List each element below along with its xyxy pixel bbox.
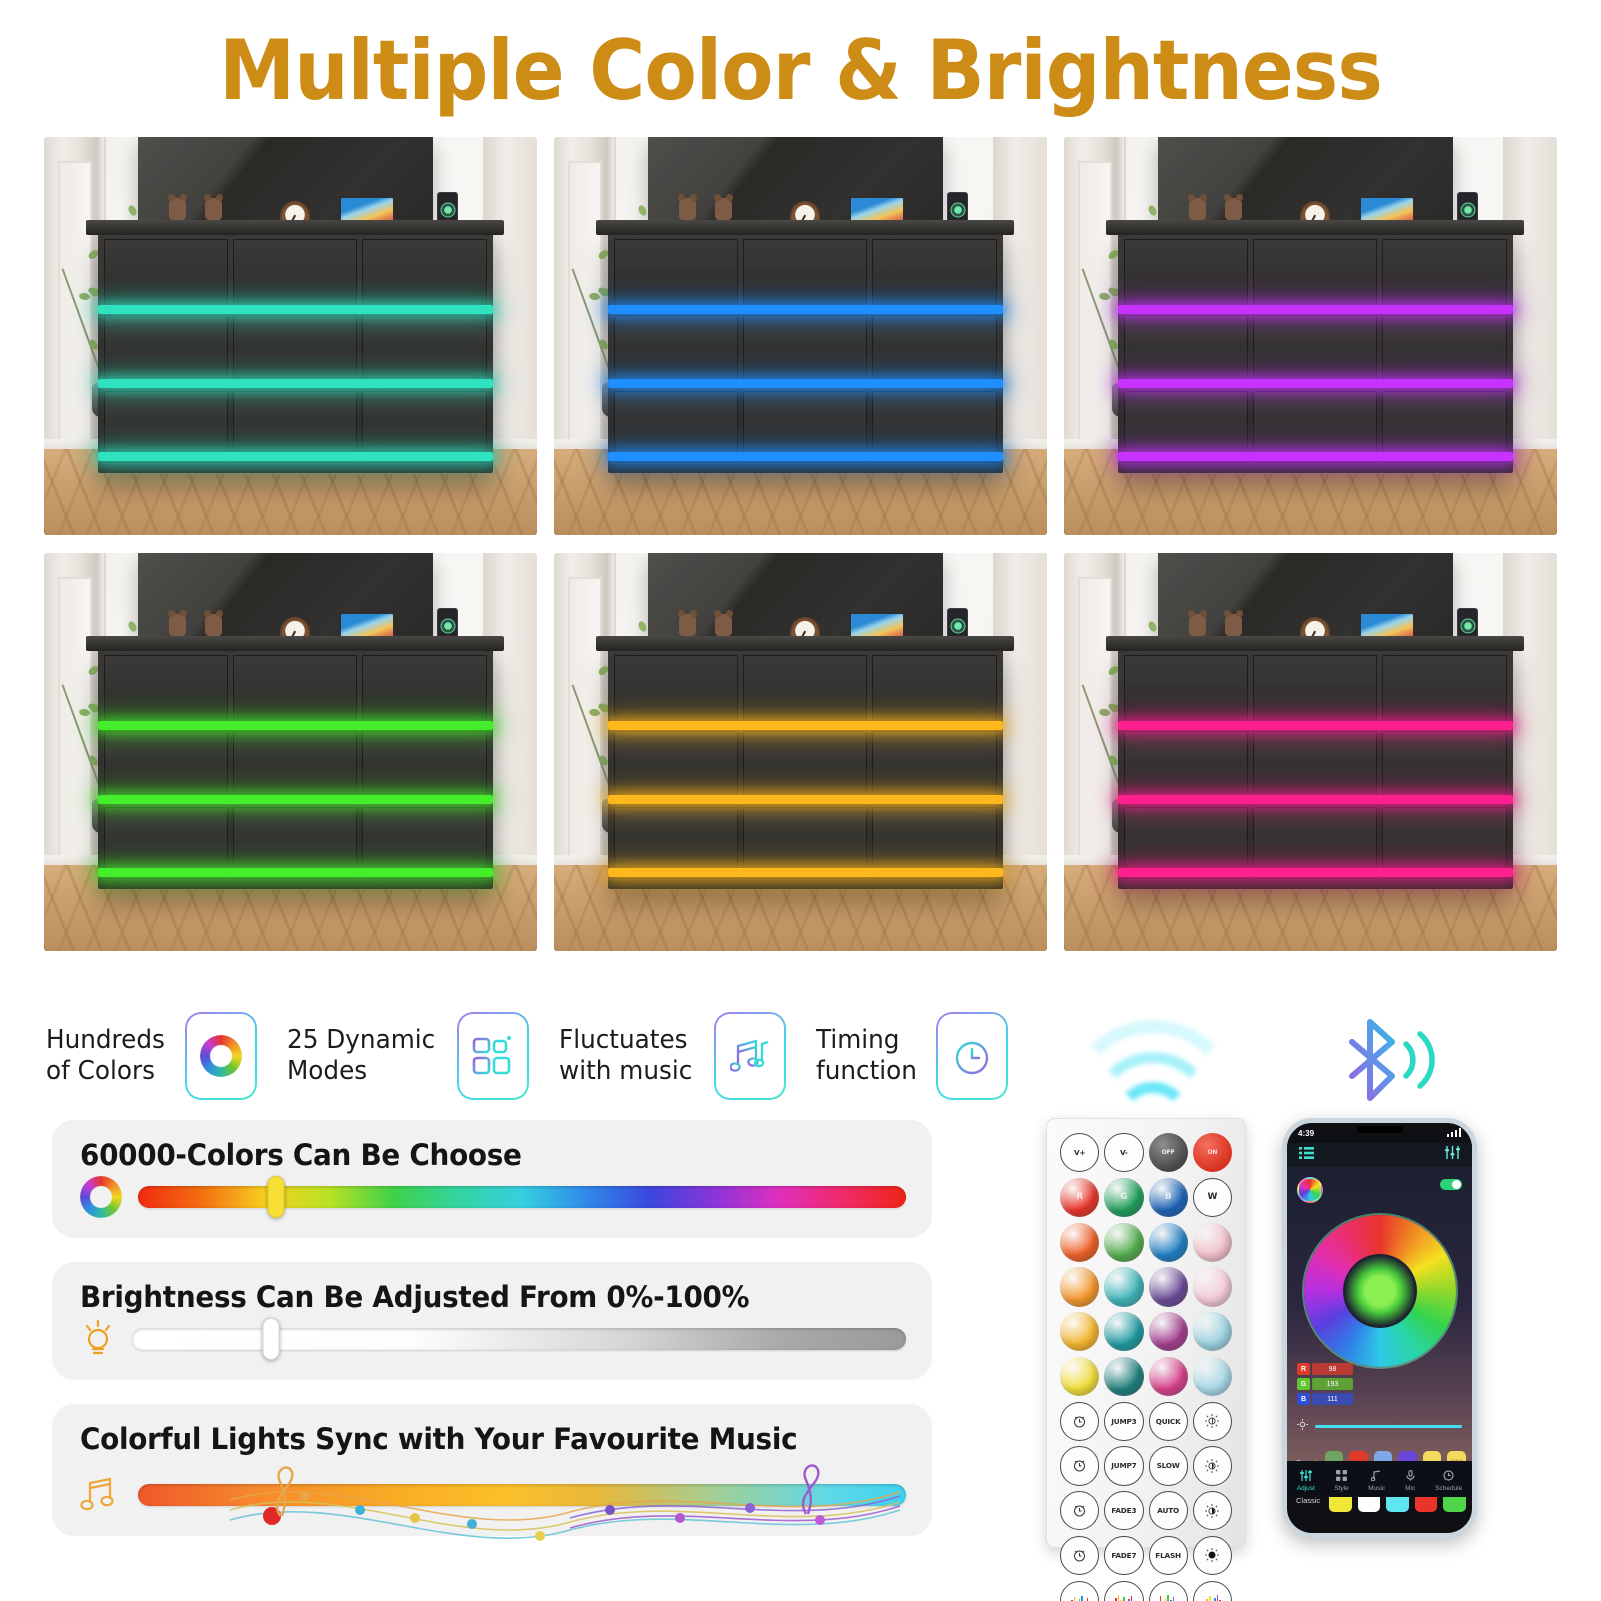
drawer[interactable] (233, 731, 357, 803)
signal-icon (1447, 1128, 1461, 1139)
drawer[interactable] (1382, 731, 1506, 803)
music-gradient-bar (138, 1484, 906, 1506)
led-dresser (608, 233, 1002, 473)
drawer[interactable] (743, 731, 867, 803)
led-strip (608, 452, 1002, 461)
drawer[interactable] (614, 655, 738, 727)
remote-key-jump3[interactable]: JUMP3 (1104, 1402, 1143, 1441)
drawer[interactable] (872, 315, 996, 387)
colors-card: 60000-Colors Can Be Choose (52, 1120, 932, 1238)
bear-figurine (1189, 614, 1206, 636)
app-bottom-nav: Adjust Style Music Mic Schedule (1287, 1461, 1472, 1497)
drawer[interactable] (1253, 315, 1377, 387)
nav-item-style[interactable]: Style (1334, 1470, 1348, 1492)
feature-label: Timingfunction (816, 1025, 917, 1087)
drawer[interactable] (104, 655, 228, 727)
dresser-column (614, 239, 738, 463)
remote-color-key-5-2[interactable] (1149, 1357, 1188, 1396)
drawer[interactable] (1253, 239, 1377, 311)
led-strip (608, 379, 1002, 388)
music-card: Colorful Lights Sync with Your Favourite… (52, 1404, 932, 1536)
led-strip (608, 721, 1002, 730)
bear-figurine (715, 614, 732, 636)
nav-item-schedule[interactable]: Schedule (1435, 1470, 1462, 1492)
note-icon (1371, 1470, 1382, 1483)
rgb-channel-label: B (1297, 1393, 1310, 1405)
remote-key-jump7[interactable]: JUMP7 (1104, 1446, 1143, 1485)
scene-pink (1064, 553, 1557, 951)
remote-key-g[interactable]: G (1104, 1178, 1143, 1217)
led-strip (608, 305, 1002, 314)
remote-key-flash[interactable]: FLASH (1149, 1536, 1188, 1575)
drawer[interactable] (362, 315, 486, 387)
dresser-column (362, 239, 486, 463)
bluetooth-icon (1330, 1014, 1450, 1106)
color-slider-thumb[interactable] (268, 1176, 285, 1218)
drawer[interactable] (233, 655, 357, 727)
drawer[interactable] (614, 731, 738, 803)
brightness-4-icon[interactable] (1193, 1536, 1232, 1575)
led-strip (1118, 379, 1512, 388)
music-card-heading: Colorful Lights Sync with Your Favourite… (80, 1422, 873, 1456)
feature-0: Hundredsof Colors (46, 1012, 287, 1100)
remote-color-key-3-3[interactable] (1193, 1267, 1232, 1306)
led-strip (1118, 721, 1512, 730)
bear-figurine (205, 614, 222, 636)
bear-figurine (679, 198, 696, 220)
dresser-column (614, 655, 738, 879)
led-dresser (98, 233, 492, 473)
remote-key-fade3[interactable]: FADE3 (1104, 1491, 1143, 1530)
feature-row: Hundredsof Colors 25 DynamicModes Fluctu… (46, 1008, 1056, 1104)
grid-icon (1336, 1470, 1347, 1483)
drawer[interactable] (104, 731, 228, 803)
dresser-column (743, 239, 867, 463)
remote-color-key-4-0[interactable] (1060, 1312, 1099, 1351)
led-strip (608, 868, 1002, 877)
led-strip (1118, 452, 1512, 461)
colors-slider-row (80, 1174, 906, 1220)
led-dresser (608, 649, 1002, 889)
feature-label: Fluctuateswith music (559, 1025, 692, 1087)
drawer[interactable] (233, 315, 357, 387)
dresser-column (1253, 239, 1377, 463)
scene-green (44, 553, 537, 951)
feature-icon-box (185, 1012, 257, 1100)
dresser-top (596, 220, 1014, 235)
nav-item-music[interactable]: Music (1368, 1470, 1385, 1492)
led-strip (98, 721, 492, 730)
remote-color-key-4-3[interactable] (1193, 1312, 1232, 1351)
remote-key-quick[interactable]: QUICK (1149, 1402, 1188, 1441)
phone-status-bar: 4:39 (1287, 1123, 1472, 1143)
rgb-channel-label: G (1297, 1378, 1310, 1390)
colors-card-heading: 60000-Colors Can Be Choose (80, 1138, 873, 1172)
drawer[interactable] (1382, 315, 1506, 387)
bear-figurine (169, 614, 186, 636)
dresser-column (743, 655, 867, 879)
sun-icon (1297, 1417, 1308, 1435)
led-strip (1118, 305, 1512, 314)
feature-label: Hundredsof Colors (46, 1025, 165, 1087)
remote-key-fade7[interactable]: FADE7 (1104, 1536, 1143, 1575)
brightness-slider-thumb[interactable] (263, 1318, 280, 1360)
led-strip (1118, 868, 1512, 877)
power-toggle[interactable] (1440, 1179, 1462, 1190)
status-time: 4:39 (1298, 1129, 1314, 1138)
dresser-column (1382, 239, 1506, 463)
grid-squares-icon (457, 1012, 529, 1100)
dresser-column (104, 239, 228, 463)
music-notes-artwork (210, 1458, 910, 1558)
remote-key-v[interactable]: V- (1104, 1133, 1143, 1172)
dresser-top (1106, 636, 1524, 651)
feature-2: Fluctuateswith music (559, 1012, 815, 1100)
drawer[interactable] (104, 315, 228, 387)
list-menu-icon[interactable] (1299, 1146, 1314, 1164)
page-title: Multiple Color & Brightness (64, 22, 1537, 119)
remote-color-key-3-0[interactable] (1060, 1267, 1099, 1306)
drawer[interactable] (1253, 655, 1377, 727)
rgb-channel-label: R (1297, 1363, 1310, 1375)
nav-item-label: Music (1368, 1485, 1385, 1492)
dresser-top (596, 636, 1014, 651)
brightness-3-icon[interactable] (1193, 1491, 1232, 1530)
bear-figurine (715, 198, 732, 220)
drawer[interactable] (1382, 239, 1506, 311)
bear-figurine (1189, 198, 1206, 220)
rgb-values: R 98 G 193 B 111 (1297, 1363, 1353, 1408)
light-bulb-icon (80, 1319, 116, 1359)
feature-icon-box (936, 1012, 1008, 1100)
scene-teal (44, 137, 537, 535)
led-strip (98, 795, 492, 804)
scene-grid (44, 137, 1557, 951)
remote-key-b[interactable]: B (1149, 1178, 1188, 1217)
bear-figurine (679, 614, 696, 636)
brightness-slider-track[interactable] (132, 1328, 906, 1350)
scene-blue (554, 137, 1047, 535)
drawer[interactable] (362, 655, 486, 727)
nav-item-label: Style (1334, 1485, 1348, 1492)
remote-key-r[interactable]: R (1060, 1178, 1099, 1217)
color-wheel-icon (80, 1176, 122, 1218)
timer-icon (936, 1012, 1008, 1100)
bear-figurine (205, 198, 222, 220)
brightness-card: Brightness Can Be Adjusted From 0%-100% (52, 1262, 932, 1380)
dresser-top (1106, 220, 1524, 235)
drawer[interactable] (872, 655, 996, 727)
remote-color-key-3-2[interactable] (1149, 1267, 1188, 1306)
dresser-column (872, 655, 996, 879)
classic-label: Classic (1296, 1496, 1323, 1505)
remote-color-key-5-0[interactable] (1060, 1357, 1099, 1396)
drawer[interactable] (362, 731, 486, 803)
drawer[interactable] (614, 315, 738, 387)
brightness-2-icon[interactable] (1193, 1446, 1232, 1485)
remote-color-key-5-1[interactable] (1104, 1357, 1143, 1396)
timer-3h-icon[interactable] (1060, 1491, 1099, 1530)
remote-color-key-4-2[interactable] (1149, 1312, 1188, 1351)
brightness-slider-row (80, 1316, 906, 1362)
remote-color-key-5-3[interactable] (1193, 1357, 1232, 1396)
feature-3: Timingfunction (816, 1012, 1038, 1100)
drawer[interactable] (743, 655, 867, 727)
nav-item-label: Schedule (1435, 1485, 1462, 1492)
rgb-channel-value: 193 (1312, 1378, 1353, 1390)
dresser-top (86, 636, 504, 651)
scene-purple (1064, 137, 1557, 535)
clock-icon (1443, 1470, 1454, 1483)
dresser-column (1382, 655, 1506, 879)
timer-4h-icon[interactable] (1060, 1536, 1099, 1575)
remote-key-1[interactable]: 1 (1060, 1581, 1099, 1601)
bear-figurine (1225, 198, 1242, 220)
drawer[interactable] (1124, 731, 1248, 803)
rgb-channel-value: 111 (1312, 1393, 1353, 1405)
rgb-channel-value: 98 (1312, 1363, 1353, 1375)
app-body: R 98 G 193 B 111 PresetCC1 Classi (1287, 1167, 1472, 1497)
sliders-icon (1300, 1470, 1312, 1483)
feature-1: 25 DynamicModes (287, 1012, 559, 1100)
dresser-column (1124, 239, 1248, 463)
led-dresser (98, 649, 492, 889)
drawer[interactable] (1382, 655, 1506, 727)
led-strip (98, 379, 492, 388)
remote-key-4[interactable]: 4 (1193, 1581, 1232, 1601)
remote-key-auto[interactable]: AUTO (1149, 1491, 1188, 1530)
drawer[interactable] (1124, 655, 1248, 727)
remote-key-2[interactable]: 2 (1104, 1581, 1143, 1601)
drawer[interactable] (1124, 315, 1248, 387)
drawer[interactable] (872, 731, 996, 803)
dresser-column (233, 655, 357, 879)
rgb-row-G: G 193 (1297, 1378, 1353, 1390)
dresser-top (86, 220, 504, 235)
nav-item-label: Mic (1405, 1485, 1415, 1492)
mic-icon (1405, 1470, 1416, 1483)
sliders-icon[interactable] (1445, 1146, 1460, 1164)
bear-figurine (1225, 614, 1242, 636)
music-notes-icon (714, 1012, 786, 1100)
led-strip (608, 795, 1002, 804)
nav-item-adjust[interactable]: Adjust (1297, 1470, 1315, 1492)
infographic-page: Multiple Color & Brightness (0, 0, 1601, 1601)
drawer[interactable] (233, 239, 357, 311)
dresser-column (872, 239, 996, 463)
feature-icon-box (457, 1012, 529, 1100)
color-picker-wheel[interactable] (1304, 1215, 1456, 1367)
app-brightness-row[interactable] (1297, 1417, 1462, 1435)
remote-color-key-3-1[interactable] (1104, 1267, 1143, 1306)
remote-color-key-4-1[interactable] (1104, 1312, 1143, 1351)
app-top-bar (1287, 1143, 1472, 1167)
phone-mockup[interactable]: 4:39 (1282, 1118, 1477, 1538)
rgb-row-R: R 98 (1297, 1363, 1353, 1375)
nav-item-mic[interactable]: Mic (1405, 1470, 1416, 1492)
remote-key-w[interactable]: W (1193, 1178, 1232, 1217)
led-strip (1118, 795, 1512, 804)
brightness-1-icon[interactable] (1193, 1402, 1232, 1441)
bear-figurine (169, 198, 186, 220)
remote-key-on[interactable]: ON (1193, 1133, 1232, 1172)
rgb-row-B: B 111 (1297, 1393, 1353, 1405)
drawer[interactable] (362, 239, 486, 311)
drawer[interactable] (743, 315, 867, 387)
music-notes-icon (80, 1473, 122, 1517)
led-dresser (1118, 233, 1512, 473)
drawer[interactable] (872, 239, 996, 311)
timer-1h-icon[interactable] (1060, 1402, 1099, 1441)
brightness-card-heading: Brightness Can Be Adjusted From 0%-100% (80, 1280, 873, 1314)
led-dresser (1118, 649, 1512, 889)
dresser-column (362, 655, 486, 879)
led-strip (98, 868, 492, 877)
remote-key-3[interactable]: 3 (1149, 1581, 1188, 1601)
color-slider-track[interactable] (138, 1186, 906, 1208)
ir-remote[interactable]: V+V-OFFONRGBW JUMP3QUICK JUMP7SLOW FADE3… (1046, 1118, 1246, 1548)
remote-color-key-2-3[interactable] (1193, 1223, 1232, 1262)
dresser-column (1124, 655, 1248, 879)
led-strip (98, 452, 492, 461)
nav-item-label: Adjust (1297, 1485, 1315, 1492)
color-wheel-icon (185, 1012, 257, 1100)
remote-key-slow[interactable]: SLOW (1149, 1446, 1188, 1485)
led-strip (98, 305, 492, 314)
drawer[interactable] (1253, 731, 1377, 803)
color-wheel-toggle-icon[interactable] (1297, 1177, 1323, 1203)
dresser-column (104, 655, 228, 879)
dresser-column (233, 239, 357, 463)
dresser-column (1253, 655, 1377, 879)
remote-color-key-2-0[interactable] (1060, 1223, 1099, 1262)
drawer[interactable] (743, 239, 867, 311)
timer-2h-icon[interactable] (1060, 1446, 1099, 1485)
feature-icon-box (714, 1012, 786, 1100)
drawer[interactable] (614, 239, 738, 311)
remote-key-off[interactable]: OFF (1149, 1133, 1188, 1172)
remote-key-v[interactable]: V+ (1060, 1133, 1099, 1172)
drawer[interactable] (104, 239, 228, 311)
app-brightness-track[interactable] (1315, 1425, 1462, 1428)
remote-color-key-2-2[interactable] (1149, 1223, 1188, 1262)
remote-color-key-2-1[interactable] (1104, 1223, 1143, 1262)
phone-notch (1357, 1126, 1403, 1133)
drawer[interactable] (1124, 239, 1248, 311)
music-bar-row (80, 1472, 906, 1518)
feature-label: 25 DynamicModes (287, 1025, 435, 1087)
scene-amber (554, 553, 1047, 951)
wifi-waves-icon (1058, 1012, 1248, 1108)
